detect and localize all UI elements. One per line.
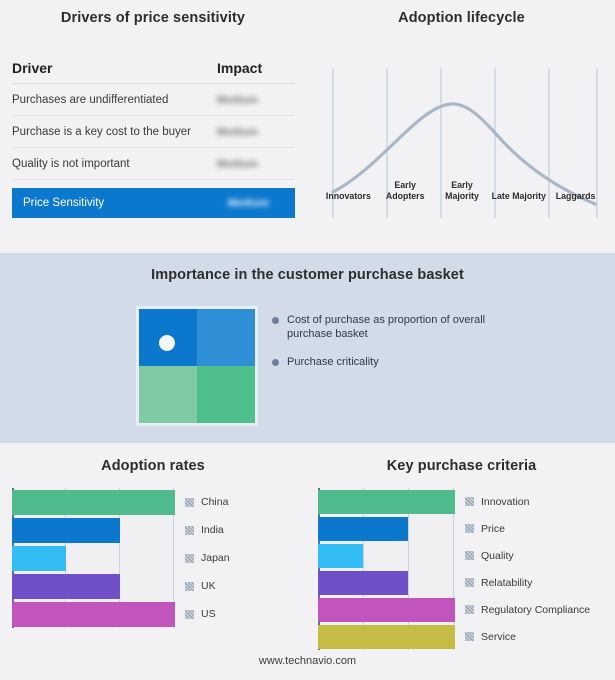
table-row[interactable]: Quality is not important Medium	[12, 148, 295, 180]
bar-row-innovation	[318, 488, 455, 515]
legend-item-price[interactable]: Price	[465, 515, 590, 542]
bullet-dot-icon	[272, 317, 279, 324]
driver-label: Purchases are undifferentiated	[12, 94, 217, 106]
legend-swatch-icon	[185, 582, 194, 591]
legend-swatch-icon	[465, 497, 474, 506]
table-row-highlighted[interactable]: Price Sensitivity Medium	[12, 188, 295, 218]
bar-japan[interactable]	[12, 546, 66, 571]
impact-value: Medium	[217, 94, 295, 106]
bar-row-regulatory-compliance	[318, 596, 455, 623]
adoption-rates-panel: Adoption rates	[0, 446, 306, 680]
infographic-root: Drivers of price sensitivity Driver Impa…	[0, 0, 615, 680]
legend-item-innovation[interactable]: Innovation	[465, 488, 590, 515]
adoption-rates-bars	[12, 488, 175, 628]
quadrant-bottom-right[interactable]	[197, 366, 255, 423]
legend-swatch-icon	[465, 605, 474, 614]
matrix-container	[136, 306, 258, 426]
purchase-basket-legend: Cost of purchase as proportion of overal…	[272, 313, 572, 383]
legend-label: Japan	[201, 552, 230, 564]
legend-swatch-icon	[465, 578, 474, 587]
table-row[interactable]: Purchase is a key cost to the buyer Medi…	[12, 116, 295, 148]
lifecycle-panel: Adoption lifecycle Innovators Early Adop…	[308, 0, 615, 250]
legend-item-relatability[interactable]: Relatability	[465, 569, 590, 596]
legend-item-uk[interactable]: UK	[185, 572, 230, 600]
quadrant-top-right[interactable]	[197, 309, 255, 366]
legend-swatch-icon	[185, 526, 194, 535]
impact-value: Medium	[217, 158, 295, 170]
bar-row-india	[12, 516, 175, 544]
lifecycle-stage-labels: Innovators Early Adopters Early Majority…	[320, 180, 604, 203]
lifecycle-stage-early-majority: Early Majority	[434, 180, 491, 203]
legend-label-cost-of-purchase: Cost of purchase as proportion of overal…	[287, 313, 522, 341]
bar-india[interactable]	[12, 518, 120, 543]
legend-label: Price	[481, 523, 505, 535]
legend-label: US	[201, 608, 216, 620]
legend-item-india[interactable]: India	[185, 516, 230, 544]
bar-china[interactable]	[12, 490, 175, 515]
bar-row-us	[12, 600, 175, 628]
lifecycle-stage-laggards: Laggards	[547, 191, 604, 204]
legend-label: India	[201, 524, 224, 536]
bullet-dot-icon	[272, 359, 279, 366]
purchase-basket-panel: Importance in the customer purchase bask…	[0, 253, 615, 443]
legend-label-purchase-criticality: Purchase criticality	[287, 355, 379, 369]
drivers-panel: Drivers of price sensitivity Driver Impa…	[0, 0, 306, 250]
legend-swatch-icon	[465, 524, 474, 533]
bar-uk[interactable]	[12, 574, 120, 599]
lifecycle-chart: Innovators Early Adopters Early Majority…	[320, 58, 604, 228]
legend-label: China	[201, 496, 228, 508]
adoption-rates-plot	[12, 488, 175, 628]
legend-label: Service	[481, 631, 516, 643]
purchase-criteria-chart: Innovation Price Quality Relatability Re…	[318, 488, 613, 650]
list-item: Cost of purchase as proportion of overal…	[272, 313, 572, 341]
bar-price[interactable]	[318, 517, 408, 541]
legend-item-japan[interactable]: Japan	[185, 544, 230, 572]
purchase-basket-title: Importance in the customer purchase bask…	[0, 267, 615, 283]
legend-swatch-icon	[185, 610, 194, 619]
driver-label: Purchase is a key cost to the buyer	[12, 126, 217, 138]
bar-quality[interactable]	[318, 544, 363, 568]
lifecycle-stage-innovators: Innovators	[320, 191, 377, 204]
driver-label: Quality is not important	[12, 158, 217, 170]
legend-label: Regulatory Compliance	[481, 604, 590, 616]
legend-label: Innovation	[481, 496, 529, 508]
table-row[interactable]: Purchases are undifferentiated Medium	[12, 84, 295, 116]
purchase-criteria-bars	[318, 488, 455, 650]
purchase-criteria-title: Key purchase criteria	[308, 458, 615, 474]
purchase-criteria-plot	[318, 488, 455, 650]
bar-regulatory-compliance[interactable]	[318, 598, 455, 622]
drivers-title: Drivers of price sensitivity	[0, 10, 306, 26]
bar-row-china	[12, 488, 175, 516]
lifecycle-stage-early-adopters: Early Adopters	[377, 180, 434, 203]
impact-value-highlighted: Medium	[228, 197, 295, 209]
bar-row-quality	[318, 542, 455, 569]
matrix-position-marker	[159, 335, 175, 351]
list-item: Purchase criticality	[272, 355, 572, 369]
impact-value: Medium	[217, 126, 295, 138]
legend-label: UK	[201, 580, 216, 592]
bar-relatability[interactable]	[318, 571, 408, 595]
bar-row-uk	[12, 572, 175, 600]
bar-service[interactable]	[318, 625, 455, 649]
adoption-rates-title: Adoption rates	[0, 458, 306, 474]
adoption-rates-legend: China India Japan UK US	[175, 488, 230, 628]
bar-row-relatability	[318, 569, 455, 596]
bar-row-price	[318, 515, 455, 542]
adoption-rates-chart: China India Japan UK US	[12, 488, 295, 628]
column-header-impact: Impact	[217, 60, 295, 76]
legend-item-service[interactable]: Service	[465, 623, 590, 650]
column-header-driver: Driver	[12, 60, 217, 76]
legend-swatch-icon	[185, 554, 194, 563]
legend-label: Relatability	[481, 577, 532, 589]
lifecycle-stage-late-majority: Late Majority	[490, 191, 547, 204]
legend-swatch-icon	[465, 551, 474, 560]
legend-swatch-icon	[185, 498, 194, 507]
purchase-criteria-panel: Key purchase criteria	[308, 446, 615, 680]
bar-us[interactable]	[12, 602, 175, 627]
bar-row-service	[318, 623, 455, 650]
legend-item-china[interactable]: China	[185, 488, 230, 516]
quadrant-matrix	[139, 309, 255, 423]
drivers-table-header: Driver Impact	[12, 60, 295, 84]
lifecycle-title: Adoption lifecycle	[308, 10, 615, 26]
bar-row-japan	[12, 544, 175, 572]
legend-label: Quality	[481, 550, 514, 562]
quadrant-bottom-left[interactable]	[139, 366, 197, 423]
legend-item-quality[interactable]: Quality	[465, 542, 590, 569]
legend-item-regulatory-compliance[interactable]: Regulatory Compliance	[465, 596, 590, 623]
legend-swatch-icon	[465, 632, 474, 641]
purchase-criteria-legend: Innovation Price Quality Relatability Re…	[455, 488, 590, 650]
driver-label-highlighted: Price Sensitivity	[23, 197, 228, 209]
drivers-table: Driver Impact Purchases are undifferenti…	[12, 60, 295, 218]
legend-item-us[interactable]: US	[185, 600, 230, 628]
footer-url[interactable]: www.technavio.com	[0, 655, 615, 667]
bar-innovation[interactable]	[318, 490, 455, 514]
